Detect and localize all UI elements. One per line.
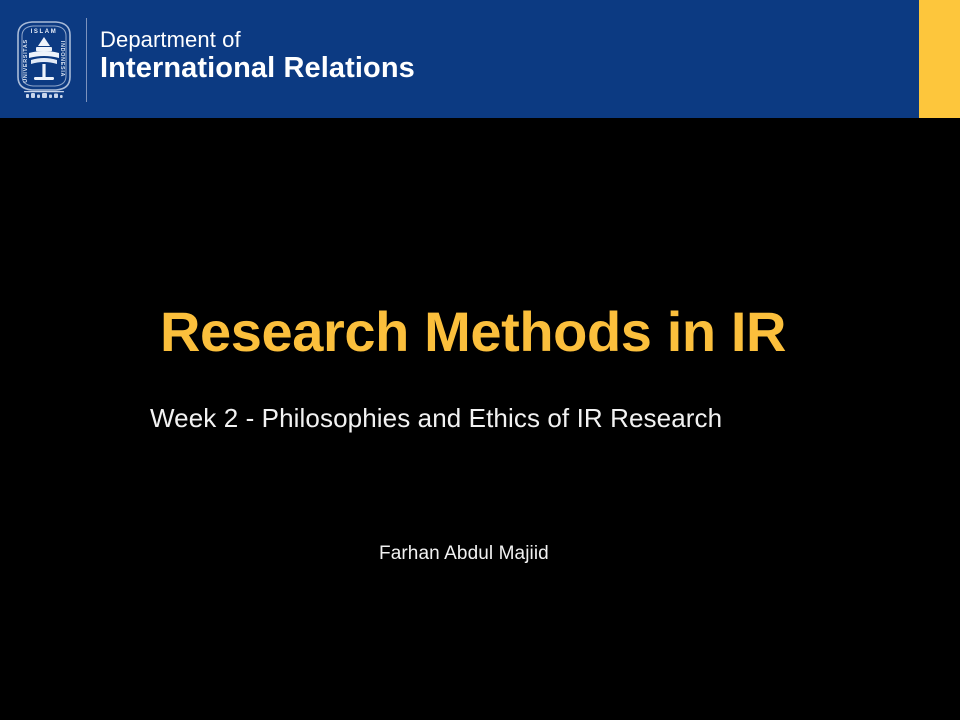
department-name-text: International Relations [100,53,600,85]
slide-body: Research Methods in IR Week 2 - Philosop… [0,118,960,720]
header-divider [86,18,87,102]
svg-text:UNIVERSITAS: UNIVERSITAS [23,39,29,83]
svg-text:INDONESIA: INDONESIA [59,41,65,77]
department-lockup: Department of International Relations [100,27,600,85]
slide-title: Research Methods in IR [160,303,860,362]
slide-subtitle: Week 2 - Philosophies and Ethics of IR R… [150,403,870,434]
header-accent-bar [919,0,960,118]
svg-text:ISLAM: ISLAM [31,29,58,35]
university-emblem-logo: ISLAM UNIVERSITAS INDONESIA [12,19,76,101]
department-prefix-text: Department of [100,27,600,52]
slide-author: Farhan Abdul Majiid [379,543,839,566]
presentation-slide: ISLAM UNIVERSITAS INDONESIA [0,0,960,720]
slide-header-band: ISLAM UNIVERSITAS INDONESIA [0,0,960,118]
